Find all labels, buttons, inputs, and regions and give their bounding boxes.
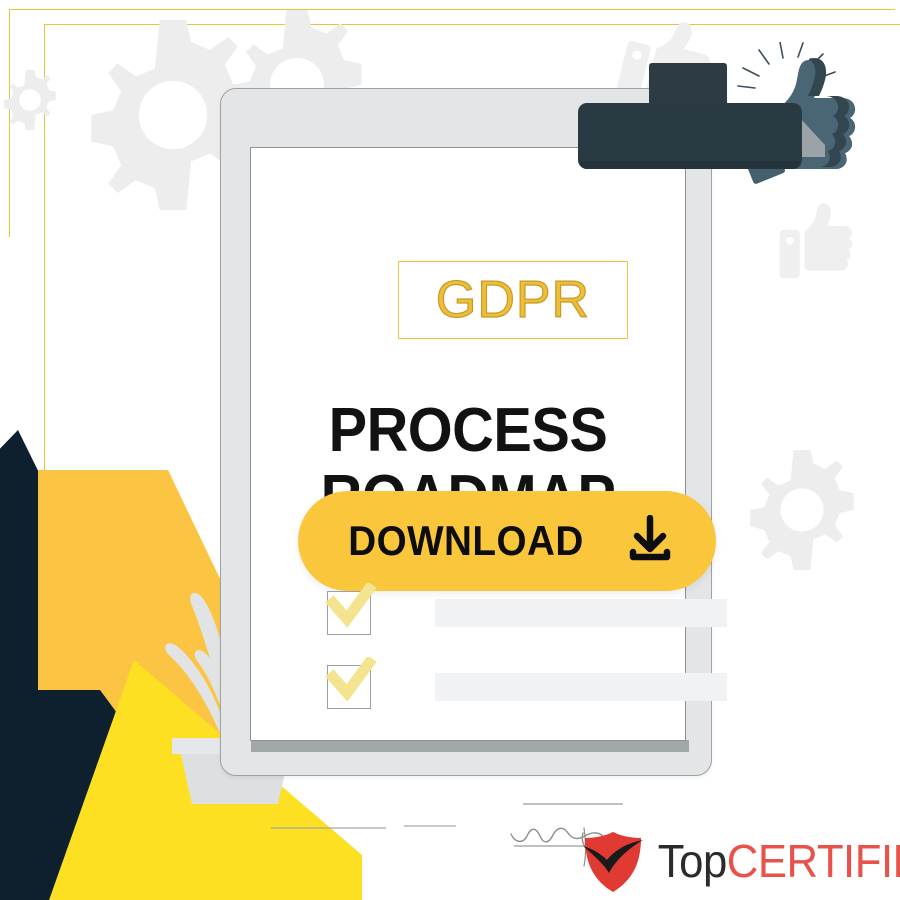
clipboard-shadow-strip [251, 740, 689, 752]
checklist-item[interactable] [327, 665, 727, 709]
checklist-text-placeholder [435, 673, 727, 701]
gear-icon [0, 70, 60, 130]
clipboard: GDPR PROCESS ROADMAP DOWNLOAD [220, 88, 712, 776]
shield-check-icon [582, 830, 644, 892]
checklist-text-placeholder [435, 599, 727, 627]
gear-icon [742, 450, 862, 570]
download-button-label: DOWNLOAD [348, 517, 583, 565]
logo-word-top: Top [658, 835, 727, 887]
download-arrow-icon [624, 515, 676, 567]
download-button[interactable]: DOWNLOAD [298, 491, 716, 591]
check-icon [323, 657, 379, 713]
logo-word-certifier: CERTIFIER [727, 835, 900, 887]
clipboard-clip-lip [580, 161, 800, 169]
clipboard-clip [578, 103, 802, 169]
gdpr-badge: GDPR [398, 261, 628, 339]
logo-wordmark: TopCERTIFIER [658, 834, 900, 888]
topcertifier-logo[interactable]: TopCERTIFIER [582, 828, 882, 894]
check-icon [323, 583, 379, 639]
poster-canvas: GDPR PROCESS ROADMAP DOWNLOAD [0, 0, 900, 900]
checklist-item[interactable] [327, 591, 727, 635]
thumbs-up-icon [778, 196, 856, 284]
page-title-line-1: PROCESS [266, 398, 670, 465]
document-paper: GDPR PROCESS ROADMAP DOWNLOAD [250, 147, 686, 741]
checkbox[interactable] [327, 665, 371, 709]
gdpr-badge-label: GDPR [436, 270, 590, 330]
checkbox[interactable] [327, 591, 371, 635]
